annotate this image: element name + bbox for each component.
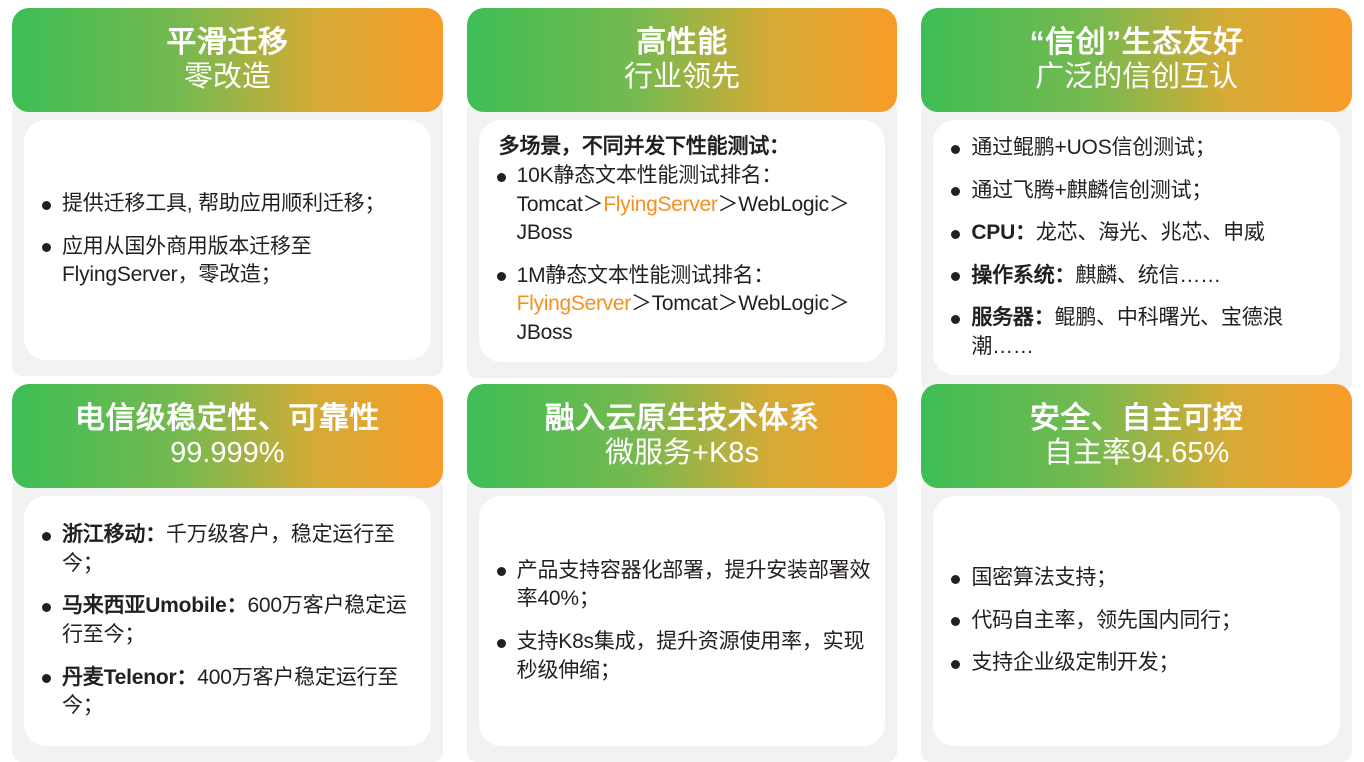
bullet-dot-icon [951, 145, 960, 154]
bullet-dot-icon [42, 603, 51, 612]
bullet-dot-icon [42, 532, 51, 541]
bullet-dot-icon [42, 674, 51, 683]
card-panel-4: 浙江移动：千万级客户，稳定运行至今； 马来西亚Umobile：600万客户稳定运… [12, 478, 443, 762]
feature-cell-2: 高性能 行业领先 多场景，不同并发下性能测试： 10K静态文本性能测试排名： T… [455, 0, 910, 376]
card-body-3: 通过鲲鹏+UOS信创测试； 通过飞腾+麒麟信创测试； CPU：龙芯、海光、兆芯、… [933, 120, 1340, 375]
card-header-1: 平滑迁移 零改造 [12, 8, 443, 112]
card-title-1: 平滑迁移 [166, 26, 288, 60]
bullet-dot-icon [951, 315, 960, 324]
bullet-dot-icon [951, 575, 960, 584]
bullet-text: 应用从国外商用版本迁移至FlyingServer，零改造； [62, 235, 312, 287]
card-panel-2: 多场景，不同并发下性能测试： 10K静态文本性能测试排名： Tomcat＞Fly… [467, 102, 898, 378]
card-body-5: 产品支持容器化部署，提升安装部署效率40%； 支持K8s集成，提升资源使用率，实… [479, 496, 886, 746]
list-item: 代码自主率，领先国内同行； [943, 607, 1326, 636]
card-subtitle-4: 99.999% [170, 437, 285, 470]
feature-cell-1: 平滑迁移 零改造 提供迁移工具, 帮助应用顺利迁移； 应用从国外商用版本迁移至F… [0, 0, 455, 376]
bullet-label: 丹麦Telenor： [62, 666, 197, 689]
card-title-5: 融入云原生技术体系 [545, 402, 820, 436]
bullet-list-2: 10K静态文本性能测试排名： Tomcat＞FlyingServer＞WebLo… [489, 162, 872, 347]
card-header-4: 电信级稳定性、可靠性 99.999% [12, 384, 443, 488]
bullet-text: 麒麟、统信…… [1075, 264, 1221, 287]
bullet-text: 支持K8s集成，提升资源使用率，实现秒级伸缩； [517, 630, 865, 682]
card-lead-2: 多场景，不同并发下性能测试： [499, 134, 872, 160]
feature-cell-3: “信创”生态友好 广泛的信创互认 通过鲲鹏+UOS信创测试； 通过飞腾+麒麟信创… [909, 0, 1364, 376]
ranking-part-accent: FlyingServer [603, 193, 717, 216]
bullet-list-3: 通过鲲鹏+UOS信创测试； 通过飞腾+麒麟信创测试； CPU：龙芯、海光、兆芯、… [943, 134, 1326, 361]
bullet-dot-icon [497, 639, 506, 648]
card-panel-6: 国密算法支持； 代码自主率，领先国内同行； 支持企业级定制开发； [921, 478, 1352, 762]
card-title-4: 电信级稳定性、可靠性 [75, 402, 380, 436]
feature-cell-6: 安全、自主可控 自主率94.65% 国密算法支持； 代码自主率，领先国内同行； [909, 376, 1364, 762]
bullet-text: 代码自主率，领先国内同行； [971, 609, 1241, 632]
bullet-text: 龙芯、海光、兆芯、申威 [1036, 221, 1265, 244]
card-header-5: 融入云原生技术体系 微服务+K8s [467, 384, 898, 488]
card-subtitle-1: 零改造 [184, 61, 271, 94]
bullet-label: CPU： [971, 221, 1036, 244]
list-item: 10K静态文本性能测试排名： Tomcat＞FlyingServer＞WebLo… [489, 162, 872, 248]
card-title-3: “信创”生态友好 [1030, 26, 1244, 60]
bullet-text: 支持企业级定制开发； [971, 651, 1179, 674]
bullet-dot-icon [951, 617, 960, 626]
ranking-part-accent: FlyingServer [517, 292, 631, 315]
card-subtitle-5: 微服务+K8s [605, 437, 759, 470]
card-subtitle-3: 广泛的信创互认 [1035, 61, 1238, 94]
bullet-dot-icon [951, 230, 960, 239]
bullet-list-6: 国密算法支持； 代码自主率，领先国内同行； 支持企业级定制开发； [943, 564, 1326, 678]
bullet-subtext: FlyingServer＞Tomcat＞WebLogic＞JBoss [517, 290, 872, 347]
bullet-subtext: Tomcat＞FlyingServer＞WebLogic＞JBoss [517, 191, 872, 248]
list-item: 浙江移动：千万级客户，稳定运行至今； [34, 521, 417, 578]
list-item: 操作系统：麒麟、统信…… [943, 262, 1326, 291]
card-subtitle-2: 行业领先 [624, 61, 740, 94]
card-body-4: 浙江移动：千万级客户，稳定运行至今； 马来西亚Umobile：600万客户稳定运… [24, 496, 431, 746]
card-title-6: 安全、自主可控 [1030, 402, 1244, 436]
card-header-3: “信创”生态友好 广泛的信创互认 [921, 8, 1352, 112]
bullet-dot-icon [497, 272, 506, 281]
list-item: 1M静态文本性能测试排名： FlyingServer＞Tomcat＞WebLog… [489, 262, 872, 348]
card-body-2: 多场景，不同并发下性能测试： 10K静态文本性能测试排名： Tomcat＞Fly… [479, 120, 886, 362]
list-item: 支持企业级定制开发； [943, 649, 1326, 678]
bullet-label: 操作系统： [971, 264, 1075, 287]
ranking-part: Tomcat＞ [517, 193, 604, 216]
card-subtitle-6: 自主率94.65% [1044, 437, 1229, 470]
card-header-2: 高性能 行业领先 [467, 8, 898, 112]
bullet-text: 提供迁移工具, 帮助应用顺利迁移； [62, 192, 385, 215]
bullet-text: 国密算法支持； [971, 566, 1117, 589]
bullet-label: 马来西亚Umobile： [62, 594, 247, 617]
card-header-6: 安全、自主可控 自主率94.65% [921, 384, 1352, 488]
bullet-text: 1M静态文本性能测试排名： [517, 264, 775, 287]
card-panel-5: 产品支持容器化部署，提升安装部署效率40%； 支持K8s集成，提升资源使用率，实… [467, 478, 898, 762]
feature-cell-5: 融入云原生技术体系 微服务+K8s 产品支持容器化部署，提升安装部署效率40%；… [455, 376, 910, 762]
bullet-dot-icon [42, 201, 51, 210]
bullet-label: 服务器： [971, 306, 1054, 329]
bullet-text: 通过飞腾+麒麟信创测试； [971, 179, 1212, 202]
list-item: CPU：龙芯、海光、兆芯、申威 [943, 219, 1326, 248]
feature-card-grid: 平滑迁移 零改造 提供迁移工具, 帮助应用顺利迁移； 应用从国外商用版本迁移至F… [0, 0, 1364, 762]
list-item: 产品支持容器化部署，提升安装部署效率40%； [489, 557, 872, 614]
bullet-label: 浙江移动： [62, 523, 166, 546]
card-body-6: 国密算法支持； 代码自主率，领先国内同行； 支持企业级定制开发； [933, 496, 1340, 746]
list-item: 马来西亚Umobile：600万客户稳定运行至今； [34, 592, 417, 649]
bullet-list-4: 浙江移动：千万级客户，稳定运行至今； 马来西亚Umobile：600万客户稳定运… [34, 521, 417, 720]
bullet-dot-icon [497, 567, 506, 576]
card-panel-1: 提供迁移工具, 帮助应用顺利迁移； 应用从国外商用版本迁移至FlyingServ… [12, 102, 443, 376]
bullet-text: 10K静态文本性能测试排名： [517, 164, 783, 187]
list-item: 提供迁移工具, 帮助应用顺利迁移； [34, 190, 417, 219]
list-item: 支持K8s集成，提升资源使用率，实现秒级伸缩； [489, 628, 872, 685]
card-title-2: 高性能 [636, 26, 728, 60]
bullet-dot-icon [42, 243, 51, 252]
bullet-dot-icon [951, 272, 960, 281]
bullet-dot-icon [951, 660, 960, 669]
bullet-list-1: 提供迁移工具, 帮助应用顺利迁移； 应用从国外商用版本迁移至FlyingServ… [34, 190, 417, 290]
list-item: 应用从国外商用版本迁移至FlyingServer，零改造； [34, 233, 417, 290]
card-panel-3: 通过鲲鹏+UOS信创测试； 通过飞腾+麒麟信创测试； CPU：龙芯、海光、兆芯、… [921, 102, 1352, 391]
list-item: 通过飞腾+麒麟信创测试； [943, 177, 1326, 206]
card-body-1: 提供迁移工具, 帮助应用顺利迁移； 应用从国外商用版本迁移至FlyingServ… [24, 120, 431, 360]
feature-cell-4: 电信级稳定性、可靠性 99.999% 浙江移动：千万级客户，稳定运行至今； 马来… [0, 376, 455, 762]
bullet-list-5: 产品支持容器化部署，提升安装部署效率40%； 支持K8s集成，提升资源使用率，实… [489, 557, 872, 685]
list-item: 服务器：鲲鹏、中科曙光、宝德浪潮…… [943, 304, 1326, 361]
list-item: 丹麦Telenor：400万客户稳定运行至今； [34, 664, 417, 721]
bullet-dot-icon [951, 187, 960, 196]
list-item: 通过鲲鹏+UOS信创测试； [943, 134, 1326, 163]
bullet-text: 通过鲲鹏+UOS信创测试； [971, 136, 1215, 159]
list-item: 国密算法支持； [943, 564, 1326, 593]
bullet-dot-icon [497, 173, 506, 182]
bullet-text: 产品支持容器化部署，提升安装部署效率40%； [517, 559, 871, 611]
